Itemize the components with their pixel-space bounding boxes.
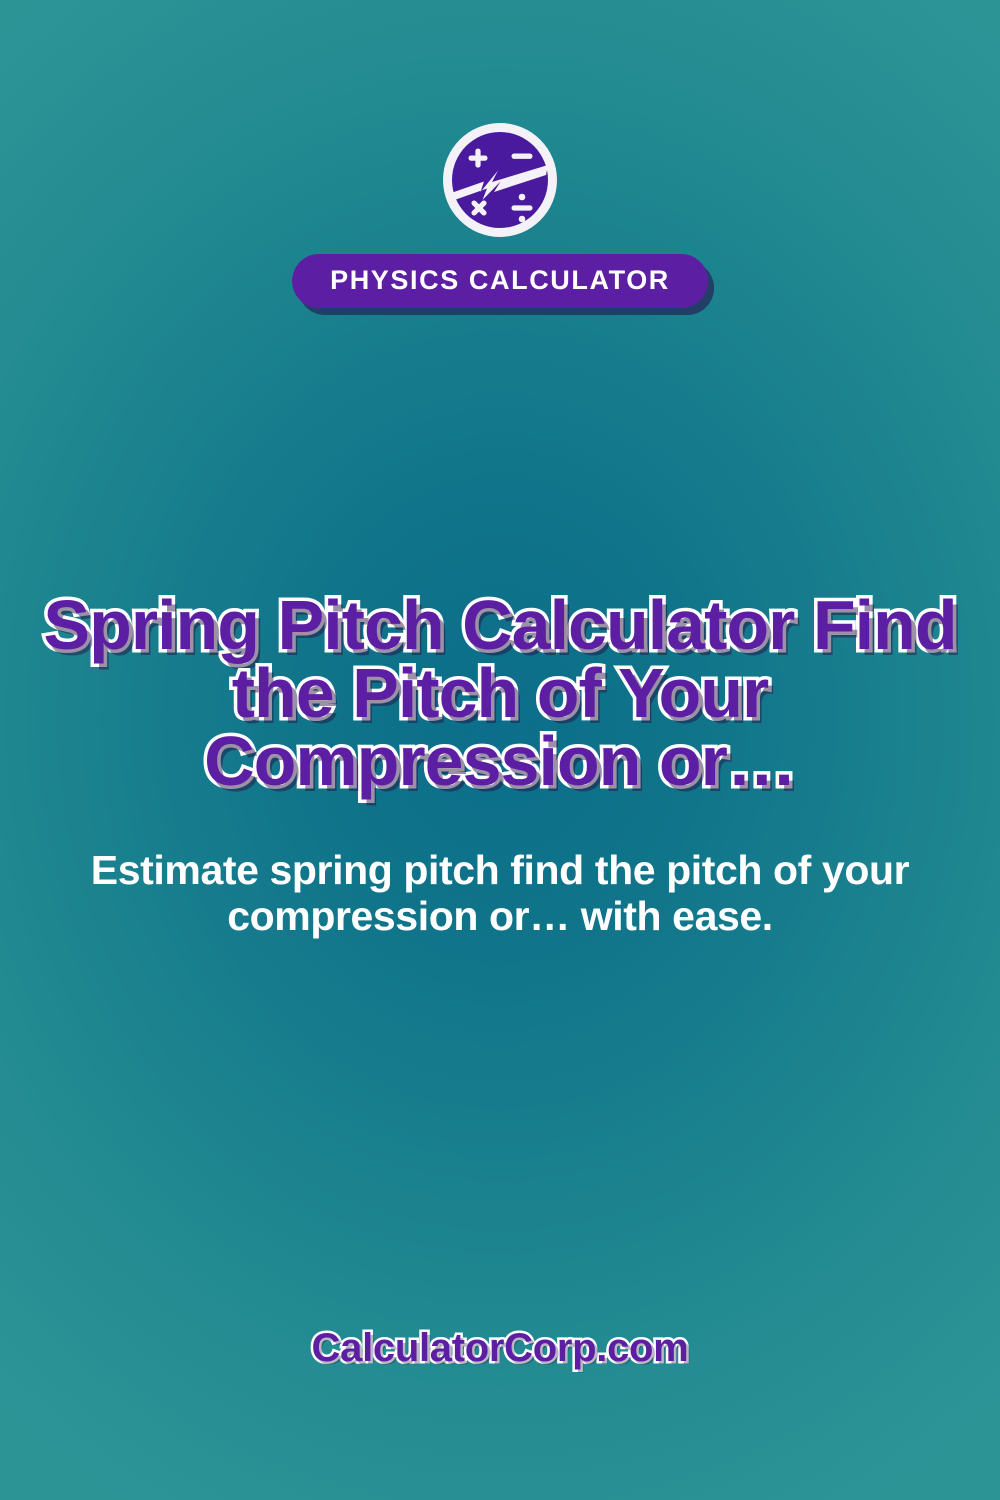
hero-subtitle-block: Estimate spring pitch find the pitch of …: [0, 848, 1000, 940]
footer-site-link[interactable]: CalculatorCorp.com: [312, 1326, 689, 1371]
minus-symbol: [512, 154, 533, 159]
page-title: Spring Pitch Calculator Find the Pitch o…: [40, 592, 960, 796]
footer-block: CalculatorCorp.com: [0, 1326, 1000, 1371]
category-badge-label: PHYSICS CALCULATOR: [330, 267, 670, 294]
page-subtitle: Estimate spring pitch find the pitch of …: [70, 848, 930, 940]
brand-logo: [440, 120, 560, 240]
calculator-operators-circle-icon: [440, 120, 560, 240]
category-badge-wrapper: PHYSICS CALCULATOR: [292, 254, 708, 308]
hero-title-block: Spring Pitch Calculator Find the Pitch o…: [0, 592, 1000, 796]
poster-canvas: PHYSICS CALCULATOR Spring Pitch Calculat…: [0, 0, 1000, 1500]
category-badge[interactable]: PHYSICS CALCULATOR: [292, 254, 708, 308]
